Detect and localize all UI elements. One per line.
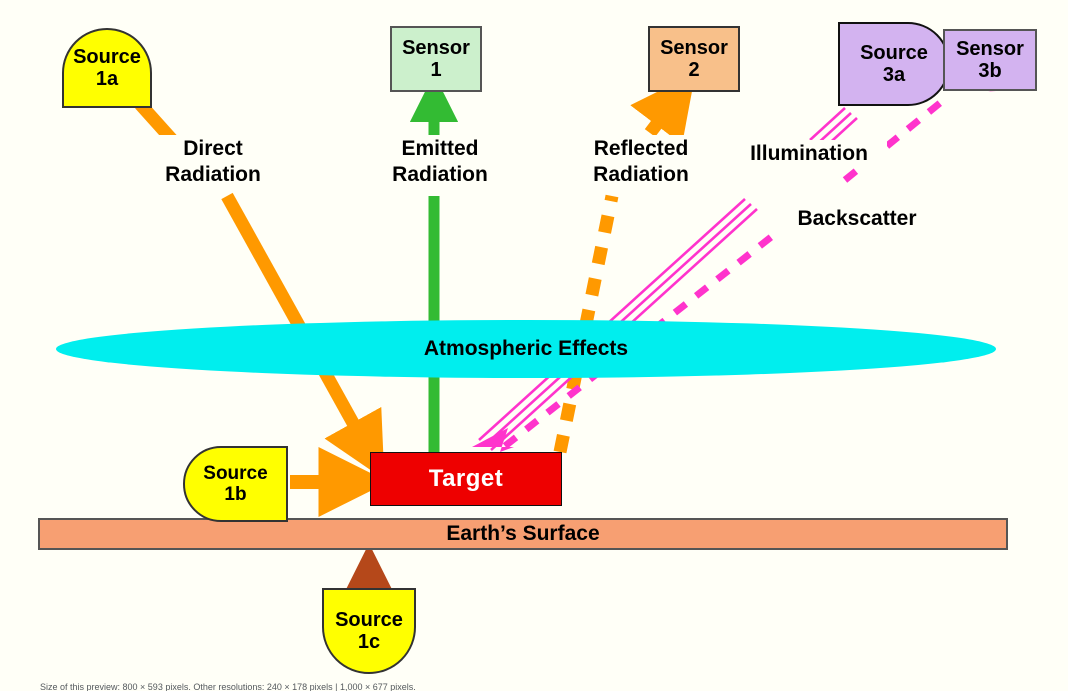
label-backscatter: Backscatter bbox=[784, 205, 930, 233]
emitted-radiation-line2: Radiation bbox=[392, 163, 488, 186]
target-box: Target bbox=[370, 452, 562, 506]
label-emitted-radiation: Emitted Radiation bbox=[372, 135, 508, 188]
source-3a-line1: Source bbox=[860, 42, 928, 64]
sensor-2-line1: Sensor bbox=[660, 37, 728, 59]
source-1b-line2: 1b bbox=[224, 484, 246, 505]
atmosphere-label: Atmospheric Effects bbox=[424, 337, 628, 361]
source-1c-line1: Source bbox=[335, 609, 403, 631]
reflected-radiation-line1: Reflected bbox=[594, 137, 689, 160]
source-3a-line2: 3a bbox=[883, 64, 905, 86]
sensor-2-line2: 2 bbox=[688, 59, 699, 81]
label-direct-radiation: Direct Radiation bbox=[140, 135, 286, 188]
source-1a-line2: 1a bbox=[96, 68, 118, 90]
atmospheric-effects-ellipse: Atmospheric Effects bbox=[56, 320, 996, 378]
reflected-radiation-line2: Radiation bbox=[593, 163, 689, 186]
target-label: Target bbox=[429, 466, 504, 493]
sensor-3b-line2: 3b bbox=[978, 60, 1001, 82]
image-caption: Size of this preview: 800 × 593 pixels. … bbox=[40, 682, 416, 691]
diagram-canvas: Atmospheric Effects Earth’s Surface Targ… bbox=[0, 0, 1068, 691]
direct-radiation-line1: Direct bbox=[183, 137, 243, 160]
sensor-1-line1: Sensor bbox=[402, 37, 470, 59]
sensor-1: Sensor 1 bbox=[390, 26, 482, 92]
source-3a: Source 3a bbox=[838, 22, 950, 106]
path-backscatter bbox=[505, 66, 1000, 446]
source-1a-line1: Source bbox=[73, 46, 141, 68]
source-1c-line2: 1c bbox=[358, 631, 380, 653]
source-1a: Source 1a bbox=[62, 28, 152, 108]
direct-radiation-line2: Radiation bbox=[165, 163, 261, 186]
earths-surface-bar: Earth’s Surface bbox=[38, 518, 1008, 550]
sensor-3b: Sensor 3b bbox=[943, 29, 1037, 91]
label-illumination: Illumination bbox=[731, 140, 887, 168]
source-1b: Source 1b bbox=[183, 446, 288, 522]
source-1b-line1: Source bbox=[203, 463, 267, 484]
emitted-radiation-line1: Emitted bbox=[401, 137, 478, 160]
label-reflected-radiation: Reflected Radiation bbox=[572, 135, 710, 188]
earth-surface-label: Earth’s Surface bbox=[446, 522, 599, 546]
sensor-1-line2: 1 bbox=[430, 59, 441, 81]
sensor-2: Sensor 2 bbox=[648, 26, 740, 92]
sensor-3b-line1: Sensor bbox=[956, 38, 1024, 60]
